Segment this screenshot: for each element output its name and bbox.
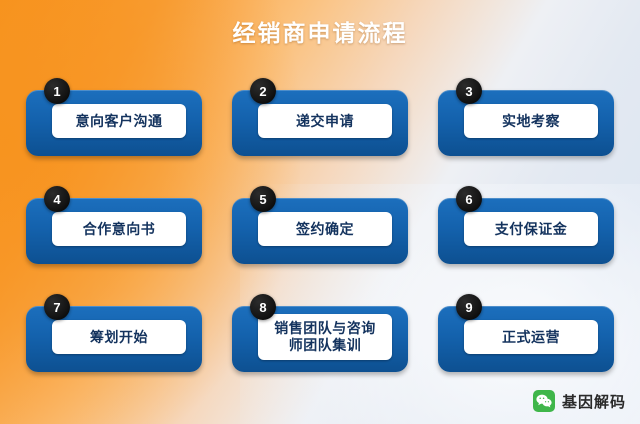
step-4-number-badge: 4 (44, 186, 70, 212)
step-7[interactable]: 7 筹划开始 (26, 294, 202, 372)
step-3[interactable]: 3 实地考察 (438, 78, 614, 156)
step-5-label: 签约确定 (296, 221, 354, 238)
step-2[interactable]: 2 递交申请 (232, 78, 408, 156)
step-6-label-box: 支付保证金 (464, 212, 598, 246)
step-6[interactable]: 6 支付保证金 (438, 186, 614, 264)
step-5[interactable]: 5 签约确定 (232, 186, 408, 264)
step-5-label-box: 签约确定 (258, 212, 392, 246)
step-4-label: 合作意向书 (83, 221, 156, 238)
watermark: 基因解码 (533, 390, 626, 412)
step-2-number-badge: 2 (250, 78, 276, 104)
step-8-number-badge: 8 (250, 294, 276, 320)
step-1-label: 意向客户沟通 (76, 113, 163, 130)
step-1-label-box: 意向客户沟通 (52, 104, 186, 138)
page-title: 经销商申请流程 (0, 14, 640, 48)
steps-grid: 1 意向客户沟通 2 递交申请 3 实地考察 4 合作意向书 (26, 78, 614, 398)
step-8-label: 销售团队与咨询 师团队集训 (274, 320, 376, 354)
step-4[interactable]: 4 合作意向书 (26, 186, 202, 264)
step-3-label-box: 实地考察 (464, 104, 598, 138)
step-5-number-badge: 5 (250, 186, 276, 212)
step-1[interactable]: 1 意向客户沟通 (26, 78, 202, 156)
step-6-label: 支付保证金 (495, 221, 568, 238)
step-2-label-box: 递交申请 (258, 104, 392, 138)
step-7-number-badge: 7 (44, 294, 70, 320)
step-9-number-badge: 9 (456, 294, 482, 320)
step-1-number-badge: 1 (44, 78, 70, 104)
step-4-label-box: 合作意向书 (52, 212, 186, 246)
step-2-label: 递交申请 (296, 113, 354, 130)
step-9-label: 正式运营 (502, 329, 560, 346)
flowchart-canvas: 经销商申请流程 1 意向客户沟通 2 递交申请 3 实地考察 4 (0, 0, 640, 424)
watermark-text: 基因解码 (562, 391, 626, 412)
step-8-label-box: 销售团队与咨询 师团队集训 (258, 314, 392, 360)
step-6-number-badge: 6 (456, 186, 482, 212)
step-7-label: 筹划开始 (90, 329, 148, 346)
step-7-label-box: 筹划开始 (52, 320, 186, 354)
step-3-number-badge: 3 (456, 78, 482, 104)
step-9-label-box: 正式运营 (464, 320, 598, 354)
wechat-icon (533, 390, 555, 412)
step-3-label: 实地考察 (502, 113, 560, 130)
step-8[interactable]: 8 销售团队与咨询 师团队集训 (232, 294, 408, 372)
step-9[interactable]: 9 正式运营 (438, 294, 614, 372)
